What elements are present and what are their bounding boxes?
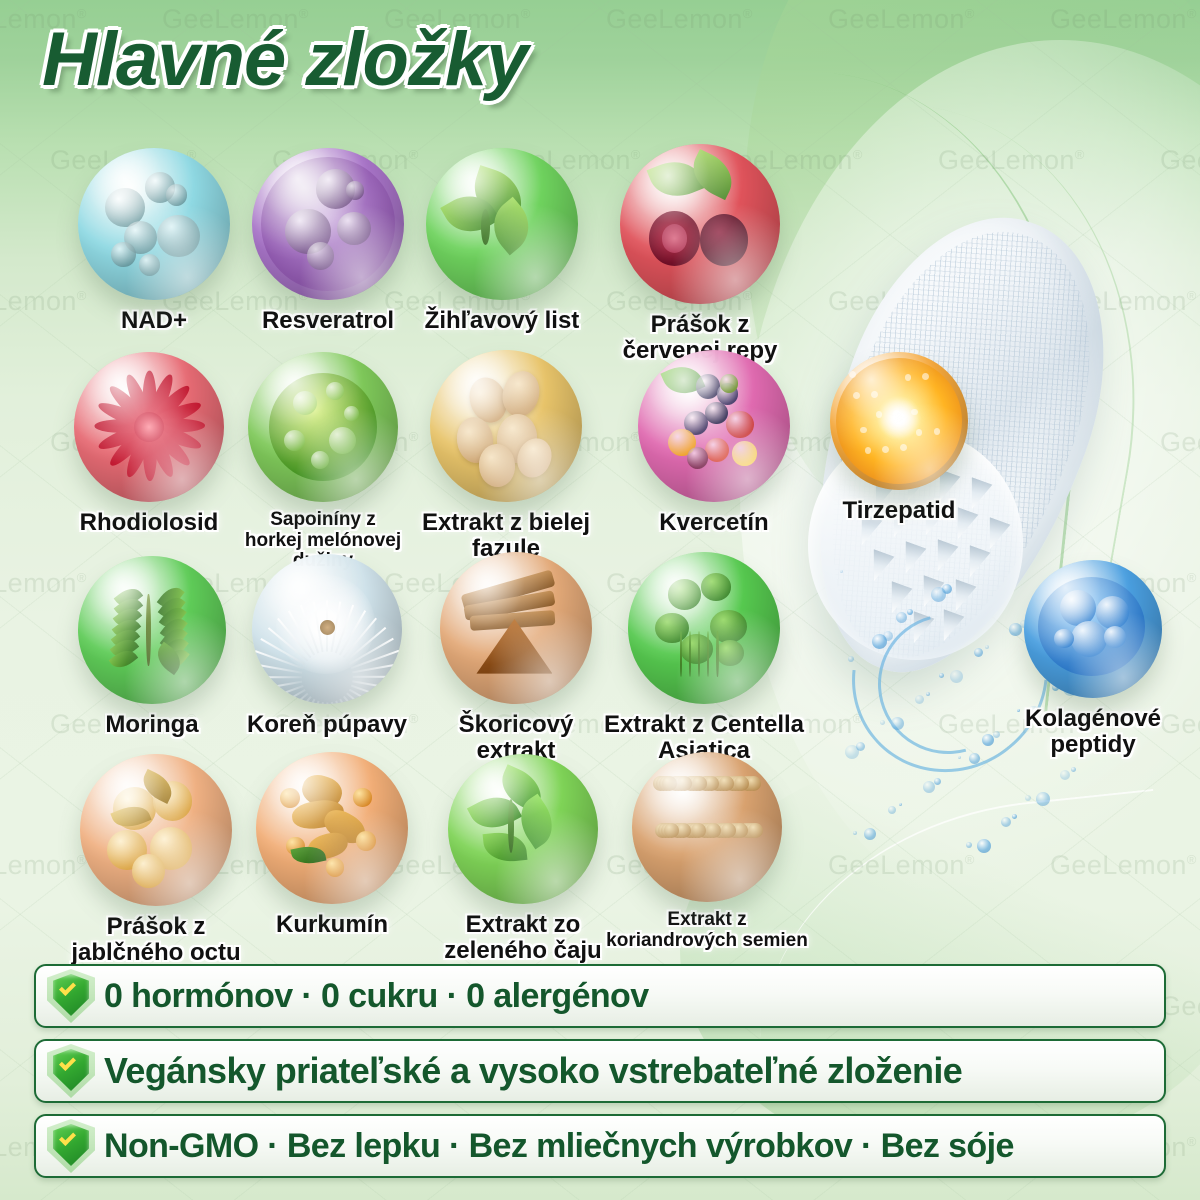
ingredient-label-line: koriandrových semien: [597, 931, 817, 952]
collagen-blue-sphere-icon: [1024, 560, 1162, 698]
shield-check-icon: [48, 1120, 94, 1172]
ingredient-item[interactable]: Kvercetín: [627, 350, 802, 536]
ingredient-label: NAD+: [67, 308, 242, 334]
ingredient-label-line: Prášok z: [598, 312, 803, 338]
ingredient-label: Kvercetín: [627, 510, 802, 536]
ingredient-label-line: Extrakt z bielej: [404, 510, 609, 536]
sphere-core: [448, 754, 598, 904]
water-droplet: [982, 734, 994, 746]
sphere-detail: [320, 620, 335, 635]
sphere-detail: [664, 823, 679, 838]
ingredient-label-line: Extrakt z: [597, 910, 817, 931]
nettle-leaf-sphere-icon: [426, 148, 578, 300]
sphere-detail: [726, 411, 753, 438]
sphere-core: [78, 148, 230, 300]
sphere-detail: [337, 212, 370, 245]
sphere-core: [638, 350, 790, 502]
water-droplet: [923, 781, 935, 793]
sphere-detail: [481, 209, 490, 245]
white-bean-sphere-icon: [430, 350, 582, 502]
rhodiola-flower-sphere-icon: [74, 352, 224, 502]
sphere-detail: [146, 594, 150, 665]
ingredient-label-line: zeleného čaju: [428, 938, 618, 964]
sphere-core: [256, 752, 408, 904]
sphere-leaf: [483, 830, 528, 864]
ingredient-item[interactable]: Koreň púpavy: [222, 554, 432, 738]
ingredient-label: Resveratrol: [238, 308, 418, 334]
water-droplet: [1071, 767, 1076, 772]
claim-bar: Vegánsky priateľské a vysoko vstrebateľn…: [34, 1039, 1166, 1103]
purple-sphere-icon: [252, 148, 404, 300]
ingredient-item[interactable]: Škoricovýextrakt: [426, 552, 606, 764]
sphere-detail: [732, 441, 756, 465]
ingredient-label: Kurkumín: [242, 912, 422, 938]
ingredient-sphere: [78, 148, 230, 300]
dandelion-seed: [252, 676, 301, 678]
sphere-core: [1024, 560, 1162, 698]
ingredient-item[interactable]: Moringa: [62, 556, 242, 738]
watermark-text: GeeLemon®: [1160, 427, 1200, 458]
ingredient-label-line: Extrakt zo: [428, 912, 618, 938]
sphere-detail: [353, 788, 371, 806]
water-droplet: [853, 831, 857, 835]
sphere-detail: [700, 214, 748, 265]
ingredient-item[interactable]: Extrakt z bielejfazule: [404, 350, 609, 562]
dandelion-seed: [352, 676, 402, 678]
sphere-core: [252, 148, 404, 300]
ingredient-sphere: [256, 752, 408, 904]
sphere-detail: [139, 254, 160, 275]
ingredient-label-line: NAD+: [67, 308, 242, 334]
sphere-core: [620, 144, 780, 304]
ingredient-sphere: [632, 752, 782, 902]
ingredient-item[interactable]: Kurkumín: [242, 752, 422, 938]
sphere-detail: [720, 374, 738, 392]
sphere-detail: [356, 831, 376, 851]
watermark-text: GeeLemon®: [1050, 4, 1197, 35]
dandelion-seed: [326, 703, 328, 705]
ingredient-sphere: [440, 552, 592, 704]
sphere-core: [248, 352, 398, 502]
water-droplet: [1060, 770, 1070, 780]
sphere-detail: [1071, 621, 1107, 657]
sphere-detail: [721, 823, 736, 838]
sphere-detail: [662, 776, 677, 791]
claim-bar: 0 hormónov · 0 cukru · 0 alergénov: [34, 964, 1166, 1028]
sphere-detail: [716, 631, 718, 677]
sphere-detail: [1096, 596, 1129, 629]
sphere-detail: [687, 447, 708, 468]
ingredient-item[interactable]: Extrakt z CentellaAsiatica: [589, 552, 819, 764]
ingredient-sphere: [248, 352, 398, 502]
sphere-detail: [326, 858, 344, 876]
claim-text: Non-GMO · Bez lepku · Bez mliečnych výro…: [104, 1127, 1014, 1166]
ingredient-sphere: [628, 552, 780, 704]
sphere-detail: [1054, 629, 1073, 648]
sphere-detail: [705, 438, 729, 462]
water-droplet: [880, 720, 885, 725]
ingredient-label: Žihľavový list: [402, 308, 602, 334]
sphere-detail: [677, 776, 692, 791]
sphere-core: [252, 554, 402, 704]
sphere-detail: [307, 242, 334, 269]
ingredient-label-line: Moringa: [62, 712, 242, 738]
sphere-core: [632, 752, 782, 902]
sphere-detail: [134, 412, 164, 442]
green-tea-sphere-icon: [448, 754, 598, 904]
sphere-core: [426, 148, 578, 300]
ingredient-item[interactable]: Žihľavový list: [402, 148, 602, 334]
ingredient-sphere: [80, 754, 232, 906]
cinnamon-sphere-icon: [440, 552, 592, 704]
ingredient-item[interactable]: Sapoiníny zhorkej melónovejdužiny: [223, 352, 423, 572]
ingredient-label: Extrakt zkoriandrových semien: [597, 910, 817, 951]
apple-cider-vinegar-sphere-icon: [80, 754, 232, 906]
ingredient-sphere: [430, 350, 582, 502]
centella-sphere-icon: [628, 552, 780, 704]
sphere-detail: [284, 430, 305, 451]
sphere-detail: [346, 181, 364, 199]
sphere-core: [830, 352, 968, 490]
sphere-detail: [344, 406, 359, 421]
water-droplet: [888, 806, 896, 814]
sphere-core: [440, 552, 592, 704]
ingredient-label-line: jablčného octu: [56, 940, 256, 966]
ingredient-item[interactable]: Tirzepatid: [819, 352, 979, 524]
sphere-detail: [132, 854, 165, 887]
ingredient-item[interactable]: Prášok zjablčného octu: [56, 754, 256, 966]
water-droplet: [845, 745, 859, 759]
sphere-core: [78, 556, 226, 704]
sphere-detail: [668, 579, 701, 609]
ingredient-label-line: Rhodiolosid: [54, 510, 244, 536]
sphere-detail: [871, 391, 878, 398]
ingredient-label-line: Kvercetín: [627, 510, 802, 536]
sphere-detail: [329, 427, 356, 454]
ingredient-sphere: [252, 148, 404, 300]
water-droplet: [891, 717, 904, 730]
ingredient-label-line: Koreň púpavy: [222, 712, 432, 738]
water-droplet: [934, 778, 941, 785]
ingredient-sphere: [252, 554, 402, 704]
ingredient-label-line: Tirzepatid: [819, 498, 979, 524]
water-droplet: [856, 742, 865, 751]
ingredient-label-line: Extrakt z Centella: [589, 712, 819, 738]
ingredient-label: Koreň púpavy: [222, 712, 432, 738]
ingredient-label: Rhodiolosid: [54, 510, 244, 536]
sphere-detail: [680, 631, 682, 677]
water-droplet: [864, 828, 876, 840]
shield-check-icon: [48, 970, 94, 1022]
ingredient-label: Kolagénovépeptidy: [998, 706, 1188, 758]
ingredient-item[interactable]: Extrakt zkoriandrových semien: [597, 752, 817, 951]
sphere-core: [74, 352, 224, 502]
watermark-text: GeeLemon®: [1160, 145, 1200, 176]
sphere-detail: [922, 373, 929, 380]
ingredient-label: Prášok zjablčného octu: [56, 914, 256, 966]
claim-text: 0 hormónov · 0 cukru · 0 alergénov: [104, 977, 649, 1016]
sphere-detail: [705, 402, 728, 425]
watermark-text: GeeLemon®: [828, 4, 975, 35]
ingredient-sphere: [1024, 560, 1162, 698]
ingredient-label-line: Škoricový: [426, 712, 606, 738]
sphere-detail: [716, 640, 743, 666]
ingredient-sphere: [74, 352, 224, 502]
sphere-detail: [311, 451, 329, 469]
sphere-detail: [326, 382, 344, 400]
sphere-detail: [706, 823, 721, 838]
shield-check-icon: [48, 1045, 94, 1097]
ingredient-sphere: [448, 754, 598, 904]
ingredient-item[interactable]: NAD+: [67, 148, 242, 334]
ingredient-label-line: Sapoiníny z: [223, 510, 423, 531]
ingredient-label-line: Prášok z: [56, 914, 256, 940]
sphere-detail: [508, 799, 514, 853]
ingredient-label-line: Žihľavový list: [402, 308, 602, 334]
claim-bar: Non-GMO · Bez lepku · Bez mliečnych výro…: [34, 1114, 1166, 1178]
ingredient-item[interactable]: Prášok zčervenej repy: [598, 144, 803, 364]
sphere-detail: [701, 573, 731, 600]
ingredient-sphere: [426, 148, 578, 300]
ingredient-item[interactable]: Kolagénovépeptidy: [998, 560, 1188, 758]
ingredient-item[interactable]: Resveratrol: [238, 148, 418, 334]
claims-list: 0 hormónov · 0 cukru · 0 alergénovVegáns…: [34, 964, 1166, 1178]
sphere-core: [80, 754, 232, 906]
ingredient-label-line: peptidy: [998, 732, 1188, 758]
bubbles-sphere-icon: [78, 148, 230, 300]
page-title: Hlavné zložky: [42, 16, 527, 103]
ingredient-sphere: [620, 144, 780, 304]
sphere-detail: [662, 224, 688, 253]
ingredient-label-line: Kurkumín: [242, 912, 422, 938]
watermark-text: GeeLemon®: [606, 4, 753, 35]
ingredient-label-line: horkej melónovej: [223, 531, 423, 552]
ingredient-sphere: [78, 556, 226, 704]
ingredient-label: Extrakt zozeleného čaju: [428, 912, 618, 964]
ingredient-sphere: [830, 352, 968, 490]
sphere-detail: [734, 776, 749, 791]
sphere-detail: [748, 823, 763, 838]
sphere-detail: [691, 823, 706, 838]
water-droplet: [969, 753, 980, 764]
sphere-detail: [166, 184, 187, 205]
berries-fruit-sphere-icon: [638, 350, 790, 502]
ingredient-item[interactable]: Extrakt zozeleného čaju: [428, 754, 618, 964]
sphere-core: [628, 552, 780, 704]
sphere-detail: [719, 776, 734, 791]
ingredient-item[interactable]: Rhodiolosid: [54, 352, 244, 536]
beetroot-sphere-icon: [620, 144, 780, 304]
claim-text: Vegánsky priateľské a vysoko vstrebateľn…: [104, 1050, 962, 1092]
sphere-detail: [934, 428, 941, 435]
sphere-detail: [111, 242, 135, 266]
sphere-detail: [280, 788, 300, 808]
bitter-melon-sphere-icon: [248, 352, 398, 502]
sphere-detail: [293, 391, 317, 415]
infographic-page: GeeLemon®GeeLemon®GeeLemon®GeeLemon®GeeL…: [0, 0, 1200, 1200]
golden-glow-sphere-icon: [830, 352, 968, 490]
sphere-detail: [692, 776, 707, 791]
moringa-leaf-sphere-icon: [78, 556, 226, 704]
water-droplet: [958, 756, 961, 759]
dandelion-sphere-icon: [252, 554, 402, 704]
ingredient-label: Tirzepatid: [819, 498, 979, 524]
water-droplet: [1025, 795, 1031, 801]
ingredient-label-line: Kolagénové: [998, 706, 1188, 732]
water-droplet: [899, 803, 902, 806]
ingredient-sphere: [638, 350, 790, 502]
ingredient-label: Moringa: [62, 712, 242, 738]
ingredient-label-line: Resveratrol: [238, 308, 418, 334]
sphere-core: [430, 350, 582, 502]
turmeric-sphere-icon: [256, 752, 408, 904]
coriander-seed-sphere-icon: [632, 752, 782, 902]
sphere-detail: [157, 215, 200, 258]
